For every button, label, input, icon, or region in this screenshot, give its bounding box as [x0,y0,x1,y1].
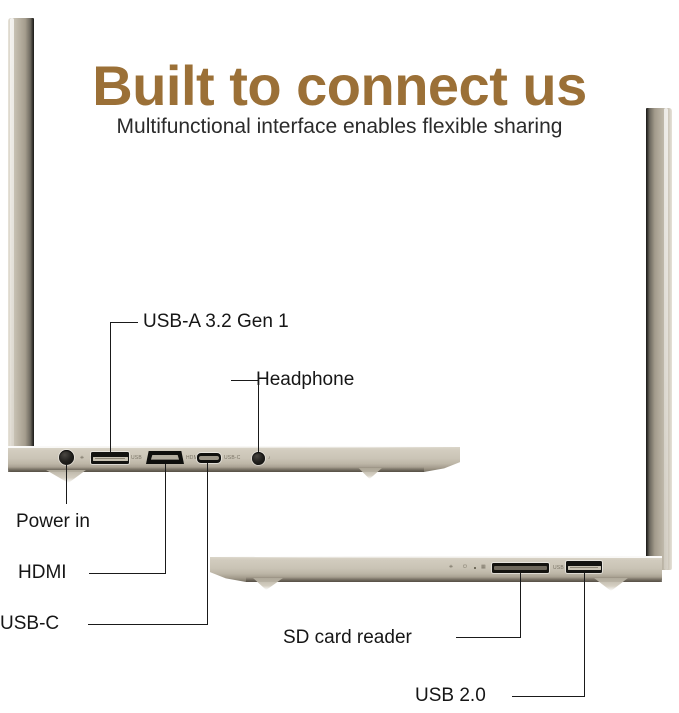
port-usb-a-3-2-gen-1[interactable] [91,452,129,464]
callout-usb-2-0: USB 2.0 [415,685,486,707]
page-subtitle: Multifunctional interface enables flexib… [0,114,679,140]
leader-usb-2-0-vertical [584,573,585,696]
laptop-top-screen-highlight [10,18,14,458]
callout-usb-a-3-2-gen-1: USB-A 3.2 Gen 1 [143,311,289,333]
callout-headphone: Headphone [256,369,354,391]
silkscreen-usb-2-0: USB [553,565,564,571]
leader-headphone-horizontal [231,380,258,381]
leader-usb-c-horizontal [88,624,208,625]
power-symbol-icon: ⎈ [80,455,84,461]
port-usb-2-0[interactable] [566,561,602,573]
laptop-bottom-foot-right [594,578,628,591]
callout-hdmi: HDMI [18,562,67,584]
hdmi-inner [151,455,179,460]
infographic-canvas: Built to connect us Multifunctional inte… [0,0,679,713]
callout-power-in: Power in [16,511,90,533]
usb-a-tongue [93,457,128,461]
leader-usb-2-0-horizontal [512,696,585,697]
power-button-icon: ⎈ [449,564,453,570]
laptop-top-chassis-topline [8,446,460,448]
leader-hdmi-horizontal [89,573,166,574]
leader-sd-card-reader-vertical [520,573,521,637]
laptop-bottom-foot-left [253,578,283,590]
lock-indicator-icon: ⏻ [463,564,467,570]
sd-slot-inner [494,566,547,571]
port-hdmi[interactable] [146,451,184,464]
port-usb-c[interactable] [197,453,221,463]
callout-sd-card-reader: SD card reader [283,627,412,649]
headphone-symbol-icon: ♪ [268,455,271,461]
leader-hdmi-vertical [165,464,166,573]
leader-usb-a-vertical [110,322,111,452]
silkscreen-usb-a: USB [131,455,142,461]
silkscreen-usb-c: USB-C [224,455,241,461]
port-sd-card-reader[interactable] [492,563,549,573]
leader-sd-card-reader-horizontal [456,637,521,638]
callout-usb-c: USB-C [0,613,59,635]
port-power-in[interactable] [59,450,74,465]
leader-usb-c-vertical [207,463,208,624]
laptop-bottom-chassis-topline [210,556,662,558]
leader-power-in-vertical [66,465,67,504]
usb-2-0-tongue [568,566,601,570]
port-headphone-jack[interactable] [252,452,265,465]
page-title: Built to connect us [0,56,679,116]
laptop-bottom-screen-edge [646,108,672,570]
usb-c-inner [199,456,219,460]
leader-usb-a-horizontal [110,322,138,323]
laptop-bottom-screen-highlight [664,108,668,570]
sd-card-symbol-icon: ▦ [481,564,486,570]
